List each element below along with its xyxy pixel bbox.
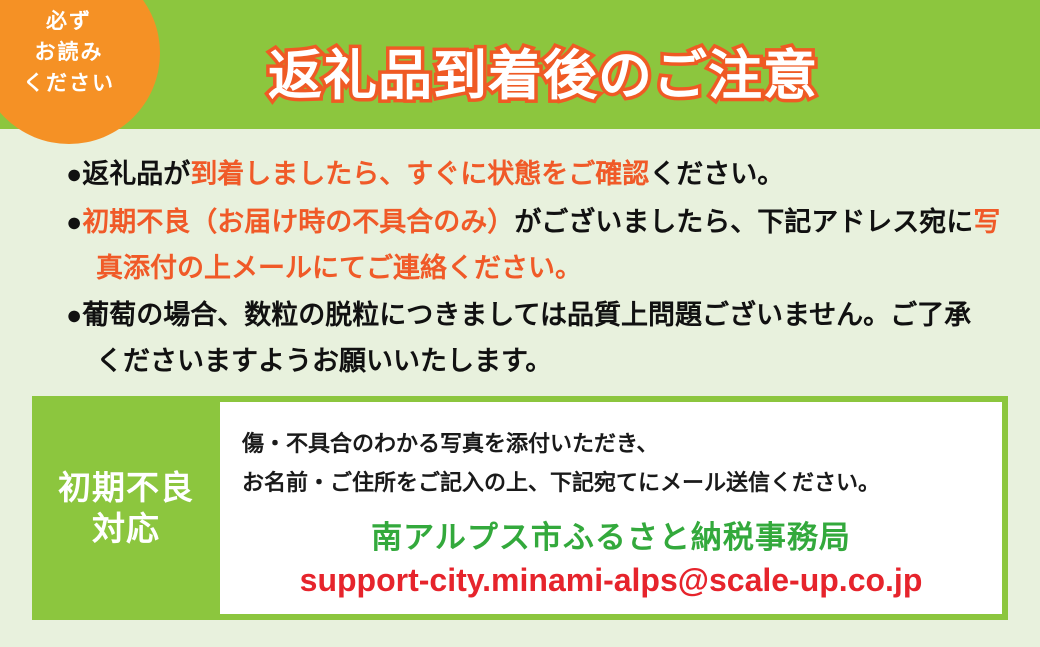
must-read-badge-text: 必ず お読み ください: [0, 6, 160, 99]
notice-item-3-part-a: ●葡萄の場合、数粒の脱粒につきましては品質上問題ございません。ご了承: [66, 300, 971, 330]
notice-item-2-marker: ●: [66, 207, 82, 237]
notice-list: ●返礼品が到着しましたら、すぐに状態をご確認ください。 ●初期不良（お届け時の不…: [0, 129, 1040, 389]
notice-item-1-part-b: 到着しましたら、すぐに状態をご確認: [190, 159, 649, 189]
notice-item-2-part-c: がございましたら、下記アドレス宛に: [514, 207, 973, 237]
badge-line-2: お読み: [0, 37, 160, 68]
defect-response-label-line-2: 対応: [92, 508, 160, 549]
page-title: 返礼品到着後のご注意: [268, 31, 818, 110]
notice-item-1-part-a: ●返礼品が: [66, 159, 190, 189]
notice-item-2-part-b: 初期不良（お届け時の不具合のみ）: [82, 207, 514, 237]
notice-item-2-continuation: 真添付の上メールにてご連絡ください。: [66, 245, 1014, 291]
organization-name: 南アルプス市ふるさと納税事務局: [242, 512, 1002, 557]
notice-item-2-part-d: 写: [973, 207, 1000, 237]
contact-email[interactable]: support-city.minami-alps@scale-up.co.jp: [242, 562, 1002, 599]
defect-response-box: 初期不良 対応 傷・不具合のわかる写真を添付いただき、 お名前・ご住所をご記入の…: [32, 396, 1008, 620]
notice-item-1-part-c: ください。: [649, 159, 784, 189]
contact-instruction-line-1: 傷・不具合のわかる写真を添付いただき、: [242, 424, 1002, 463]
contact-instruction-line-2: お名前・ご住所をご記入の上、下記宛てにメール送信ください。: [242, 463, 1002, 502]
defect-response-label: 初期不良 対応: [32, 396, 220, 620]
badge-line-1: 必ず: [0, 6, 160, 37]
notice-item-3: ●葡萄の場合、数粒の脱粒につきましては品質上問題ございません。ご了承 くださいま…: [66, 292, 1014, 384]
defect-response-label-line-1: 初期不良: [58, 467, 194, 508]
notice-item-1: ●返礼品が到着しましたら、すぐに状態をご確認ください。: [66, 151, 1014, 197]
contact-panel: 傷・不具合のわかる写真を添付いただき、 お名前・ご住所をご記入の上、下記宛てにメ…: [220, 402, 1002, 614]
notice-item-2: ●初期不良（お届け時の不具合のみ）がございましたら、下記アドレス宛に写 真添付の…: [66, 199, 1014, 291]
notice-item-3-continuation: くださいますようお願いいたします。: [66, 338, 1014, 384]
badge-line-3: ください: [0, 68, 160, 99]
